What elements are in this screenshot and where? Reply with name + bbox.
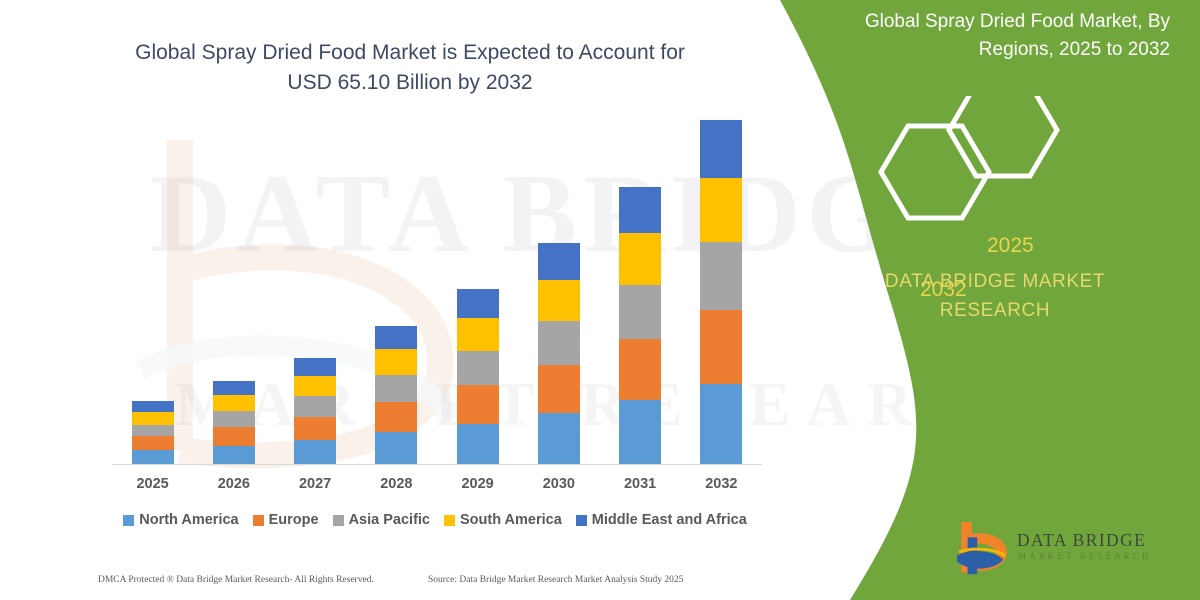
- bar-segment: [457, 351, 499, 385]
- bar-segment: [294, 358, 336, 376]
- x-axis-tick-label: 2025: [112, 476, 193, 492]
- bar-segment: [375, 375, 417, 402]
- footer: DMCA Protected ® Data Bridge Market Rese…: [0, 569, 800, 591]
- page-title: Global Spray Dried Food Market is Expect…: [60, 38, 760, 98]
- page-title-line2: USD 65.10 Billion by 2032: [287, 71, 532, 94]
- legend-swatch-icon: [333, 515, 344, 526]
- bar-segment: [700, 384, 742, 465]
- logo-subtitle: MARKET RESEARCH: [1018, 551, 1152, 561]
- page-title-line1: Global Spray Dried Food Market is Expect…: [135, 41, 685, 64]
- bar-segment: [294, 376, 336, 396]
- bar-segment: [619, 233, 661, 284]
- bar-segment: [294, 417, 336, 440]
- company-logo: DATA BRIDGE MARKET RESEARCH: [955, 518, 1185, 580]
- x-axis-tick-label: 2032: [681, 476, 762, 492]
- bar-column: [375, 326, 417, 465]
- bar-segment: [538, 280, 580, 321]
- x-axis-tick-label: 2028: [356, 476, 437, 492]
- chart-panel: Global Spray Dried Food Market is Expect…: [0, 0, 860, 600]
- bar-segment: [700, 242, 742, 310]
- hexagon-badges: 2032 2025: [780, 96, 1200, 236]
- legend-swatch-icon: [576, 515, 587, 526]
- bar-column: [457, 289, 499, 465]
- bar-segment: [213, 395, 255, 411]
- brand-panel-title-line1: Global Spray Dried Food Market, By: [865, 11, 1170, 32]
- legend-label: Middle East and Africa: [592, 512, 747, 528]
- brand-name-line2: RESEARCH: [940, 300, 1050, 321]
- bar-segment: [132, 425, 174, 437]
- x-axis-tick-label: 2026: [193, 476, 274, 492]
- legend-label: Asia Pacific: [349, 512, 430, 528]
- bar-segment: [213, 381, 255, 395]
- legend-item[interactable]: Middle East and Africa: [576, 512, 747, 528]
- bar-segment: [213, 446, 255, 465]
- bar-segment: [457, 385, 499, 424]
- bar-segment: [294, 396, 336, 417]
- legend-label: North America: [139, 512, 238, 528]
- x-axis-tick-label: 2030: [518, 476, 599, 492]
- bar-column: [700, 120, 742, 465]
- legend-item[interactable]: North America: [123, 512, 238, 528]
- bar-segment: [538, 321, 580, 365]
- bar-column: [294, 358, 336, 465]
- bar-segment: [457, 424, 499, 465]
- bar-segment: [700, 178, 742, 242]
- bar-segment: [132, 412, 174, 424]
- bar-segment: [700, 120, 742, 178]
- brand-panel: Global Spray Dried Food Market, By Regio…: [780, 0, 1200, 600]
- bar-segment: [619, 187, 661, 234]
- hexagon-2025-label: 2025: [987, 234, 1034, 258]
- bar-segment: [132, 401, 174, 412]
- brand-name: DATA BRIDGE MARKET RESEARCH: [810, 268, 1180, 325]
- legend-item[interactable]: South America: [444, 512, 562, 528]
- bar-segment: [213, 411, 255, 427]
- bar-segment: [619, 339, 661, 400]
- legend-swatch-icon: [253, 515, 264, 526]
- x-axis-tick-label: 2029: [437, 476, 518, 492]
- x-axis-line: [112, 464, 762, 465]
- legend-swatch-icon: [444, 515, 455, 526]
- bar-column: [132, 401, 174, 465]
- footer-source: Source: Data Bridge Market Research Mark…: [428, 575, 683, 585]
- bar-segment: [457, 318, 499, 351]
- bar-column: [538, 243, 580, 465]
- bar-segment: [213, 427, 255, 446]
- legend-label: Europe: [269, 512, 319, 528]
- bar-segment: [619, 285, 661, 339]
- legend-item[interactable]: Asia Pacific: [333, 512, 430, 528]
- legend-label: South America: [460, 512, 562, 528]
- x-axis-tick-label: 2031: [600, 476, 681, 492]
- x-axis-tick-label: 2027: [275, 476, 356, 492]
- bar-segment: [700, 310, 742, 385]
- stacked-bar-chart: [112, 120, 762, 465]
- hexagon-outline-icons: [780, 96, 1200, 256]
- bar-segment: [619, 400, 661, 465]
- bar-segment: [457, 289, 499, 319]
- bar-segment: [375, 432, 417, 465]
- bar-segment: [375, 326, 417, 349]
- legend-item[interactable]: Europe: [253, 512, 319, 528]
- chart-legend: North AmericaEuropeAsia PacificSouth Ame…: [112, 512, 772, 528]
- bar-segment: [538, 413, 580, 465]
- bar-segment: [538, 365, 580, 413]
- brand-name-line1: DATA BRIDGE MARKET: [885, 271, 1105, 292]
- bar-segment: [132, 436, 174, 450]
- bar-segment: [294, 440, 336, 465]
- x-axis-labels: 20252026202720282029203020312032: [112, 476, 762, 500]
- bar-segment: [375, 349, 417, 375]
- logo-mark-icon: [955, 522, 1013, 578]
- bar-column: [619, 187, 661, 465]
- brand-panel-title-line2: Regions, 2025 to 2032: [979, 39, 1170, 60]
- brand-panel-title: Global Spray Dried Food Market, By Regio…: [802, 8, 1182, 63]
- bar-segment: [132, 450, 174, 465]
- bar-column: [213, 381, 255, 465]
- bar-segment: [375, 402, 417, 432]
- footer-copyright: DMCA Protected ® Data Bridge Market Rese…: [98, 575, 374, 585]
- bar-segment: [538, 243, 580, 280]
- logo-title: DATA BRIDGE: [1017, 530, 1146, 551]
- legend-swatch-icon: [123, 515, 134, 526]
